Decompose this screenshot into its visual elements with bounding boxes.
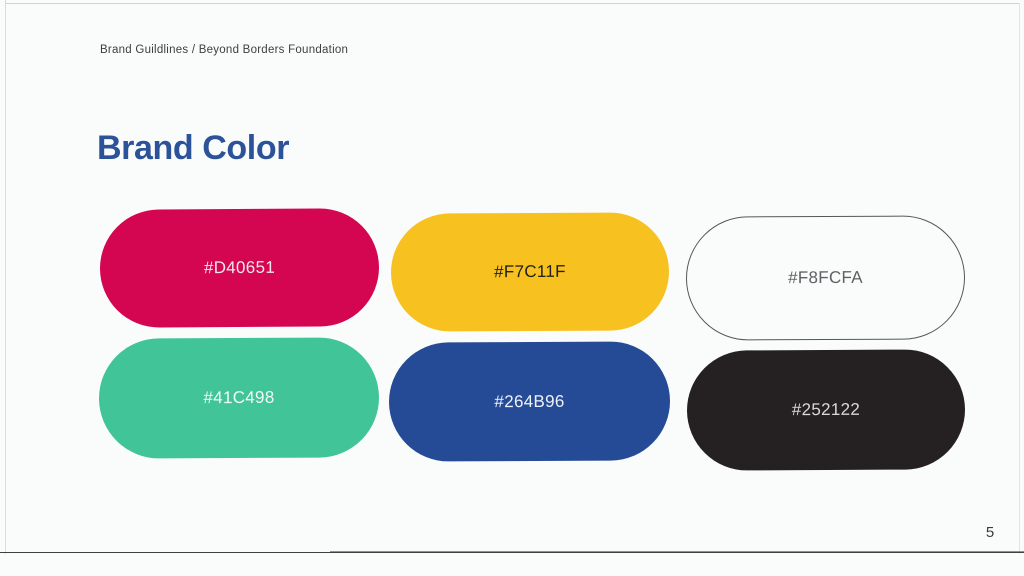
color-hex-label: #264B96 <box>494 391 564 411</box>
slide-frame-right-edge <box>1019 3 1020 554</box>
slide-frame-top-edge <box>5 3 1020 4</box>
slide-frame-left-edge <box>5 0 6 554</box>
color-swatch-crimson[interactable]: #D40651 <box>100 208 380 328</box>
page-number: 5 <box>978 524 1002 541</box>
color-hex-label: #252122 <box>792 400 860 420</box>
color-hex-label: #D40651 <box>204 258 275 278</box>
page-title: Brand Color <box>97 129 289 168</box>
color-swatch-yellow[interactable]: #F7C11F <box>391 212 670 331</box>
color-hex-label: #41C498 <box>203 388 274 408</box>
slide-bottom-margin <box>0 554 1024 576</box>
breadcrumb: Brand Guildlines / Beyond Borders Founda… <box>100 44 348 56</box>
color-swatch-blue[interactable]: #264B96 <box>389 341 671 461</box>
slide-canvas: Brand Guildlines / Beyond Borders Founda… <box>0 0 1024 576</box>
color-hex-label: #F8FCFA <box>788 268 863 288</box>
color-swatch-offwhite[interactable]: #F8FCFA <box>686 215 966 340</box>
color-hex-label: #F7C11F <box>494 262 566 282</box>
color-swatch-green[interactable]: #41C498 <box>99 337 380 458</box>
color-swatch-black[interactable]: #252122 <box>687 349 966 470</box>
